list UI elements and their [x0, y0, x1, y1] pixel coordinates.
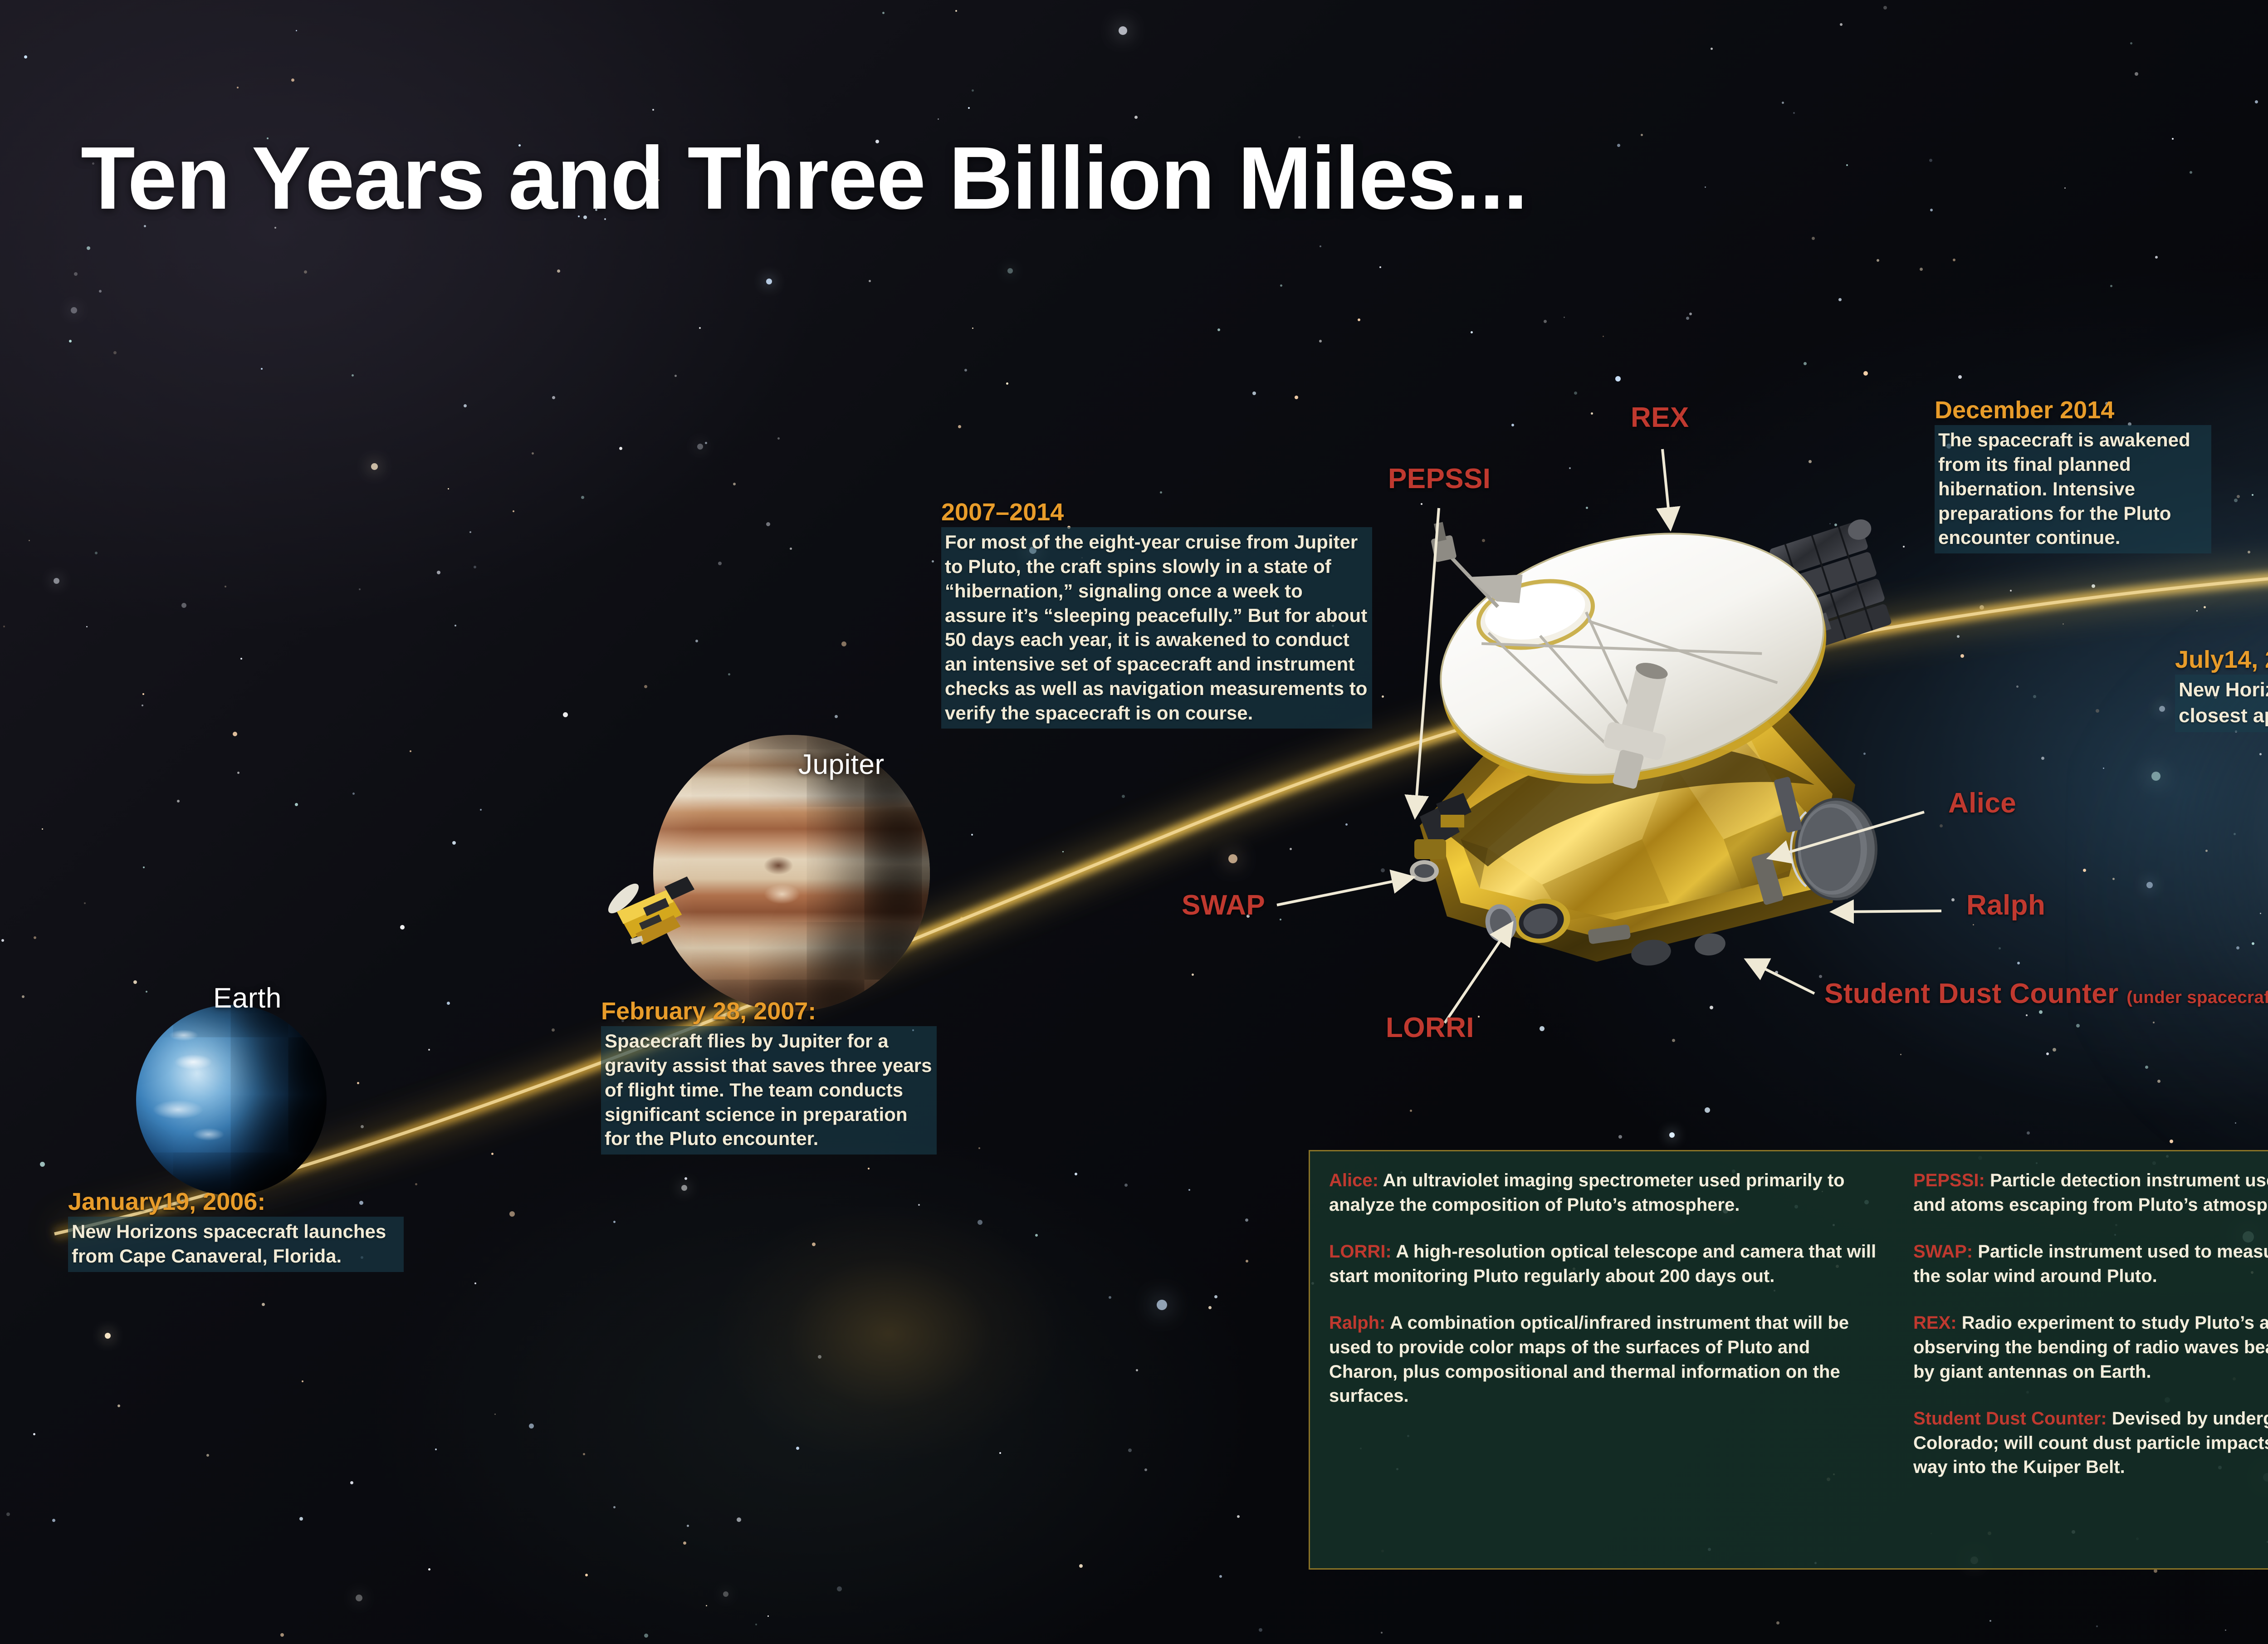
page-title: Ten Years and Three Billion Miles... — [81, 134, 1527, 223]
callout-lorri[interactable]: LORRI — [1386, 1012, 1474, 1044]
timeline-card-2007-feb: February 28, 2007: Spacecraft flies by J… — [601, 998, 946, 1155]
timeline-card-2014-dec: December 2014 The spacecraft is awakened… — [1935, 397, 2216, 553]
instrument-entry-alice: Alice: An ultraviolet imaging spectromet… — [1329, 1169, 1879, 1217]
instrument-name-alice: Alice: — [1329, 1170, 1378, 1190]
timeline-body-2014-dec: The spacecraft is awakened from its fina… — [1935, 425, 2211, 553]
instrument-name-pepssi: PEPSSI: — [1913, 1170, 1985, 1190]
callout-swap[interactable]: SWAP — [1182, 889, 1265, 921]
instrument-entry-student-dust-counter: Student Dust Counter: Devised by undergr… — [1913, 1407, 2268, 1480]
infographic-canvas: Earth Jupiter Pluto — [0, 0, 2268, 1644]
instrument-entry-rex: REX: Radio experiment to study Pluto’s a… — [1913, 1311, 2268, 1384]
timeline-date-2006: January19, 2006: — [68, 1189, 413, 1215]
timeline-body-2007-feb: Spacecraft flies by Jupiter for a gravit… — [601, 1026, 937, 1155]
instrument-name-swap: SWAP: — [1913, 1242, 1973, 1262]
timeline-card-2007-2014: 2007–2014 For most of the eight-year cru… — [941, 499, 1377, 729]
instrument-name-ralph: Ralph: — [1329, 1313, 1385, 1333]
timeline-body-2007-2014: For most of the eight-year cruise from J… — [941, 527, 1372, 729]
instrument-name-rex: REX: — [1913, 1313, 1957, 1333]
instrument-desc-lorri: A high-resolution optical telescope and … — [1329, 1242, 1876, 1286]
callout-alice[interactable]: Alice — [1948, 787, 2016, 819]
instrument-desc-rex: Radio experiment to study Pluto’s atmosp… — [1913, 1313, 2268, 1381]
callout-rex[interactable]: REX — [1631, 401, 1689, 434]
callout-sdc-label: Student Dust Counter — [1824, 978, 2119, 1009]
timeline-body-2006: New Horizons spacecraft launches from Ca… — [68, 1217, 404, 1272]
callout-ralph[interactable]: Ralph — [1966, 889, 2045, 921]
instrument-name-student-dust-counter: Student Dust Counter: — [1913, 1409, 2107, 1429]
timeline-card-2006: January19, 2006: New Horizons spacecraft… — [68, 1189, 413, 1272]
instrument-legend-right-column: PEPSSI: Particle detection instrument us… — [1898, 1151, 2268, 1568]
instrument-desc-alice: An ultraviolet imaging spectrometer used… — [1329, 1170, 1845, 1215]
timeline-card-2015-jul: July14, 2015 New Horizons makes its clos… — [2175, 646, 2268, 732]
instrument-name-lorri: LORRI: — [1329, 1242, 1392, 1262]
timeline-date-2015-jul: July14, 2015 — [2175, 646, 2268, 673]
instrument-entry-pepssi: PEPSSI: Particle detection instrument us… — [1913, 1169, 2268, 1217]
instrument-legend-panel: Alice: An ultraviolet imaging spectromet… — [1309, 1150, 2268, 1570]
timeline-date-2007-2014: 2007–2014 — [941, 499, 1377, 525]
instrument-legend-left-column: Alice: An ultraviolet imaging spectromet… — [1310, 1151, 1898, 1568]
instrument-entry-lorri: LORRI: A high-resolution optical telesco… — [1329, 1240, 1879, 1288]
callout-sdc-note: (under spacecraft) — [2126, 988, 2268, 1007]
instrument-entry-swap: SWAP: Particle instrument used to measur… — [1913, 1240, 2268, 1288]
timeline-date-2014-dec: December 2014 — [1935, 397, 2216, 423]
instrument-entry-ralph: Ralph: A combination optical/infrared in… — [1329, 1311, 1879, 1408]
timeline-body-2015-jul: New Horizons makes its closest approach … — [2175, 675, 2268, 732]
timeline-date-2007-feb: February 28, 2007: — [601, 998, 946, 1024]
callout-pepssi[interactable]: PEPSSI — [1388, 463, 1491, 495]
callout-student-dust-counter[interactable]: Student Dust Counter (under spacecraft) — [1824, 978, 2268, 1010]
instrument-desc-ralph: A combination optical/infrared instrumen… — [1329, 1313, 1849, 1406]
